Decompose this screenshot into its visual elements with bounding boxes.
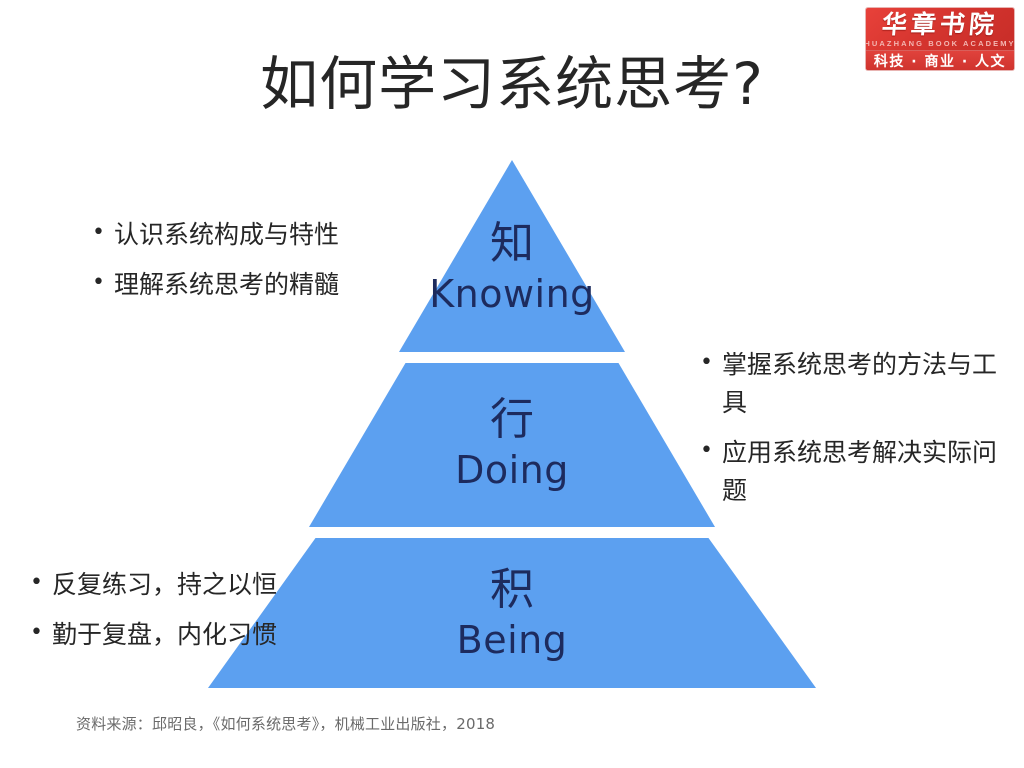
- bullet-text: 理解系统思考的精髓: [114, 266, 422, 304]
- bullet-marker-icon: •: [700, 434, 722, 467]
- pyramid-label-doing: 行 Doing: [412, 398, 612, 489]
- list-item: • 勤于复盘，内化习惯: [30, 616, 370, 654]
- pyramid-label-doing-cn: 行: [412, 398, 612, 442]
- pyramid-label-being: 积 Being: [412, 568, 612, 659]
- bullet-text: 掌握系统思考的方法与工具: [722, 346, 1010, 422]
- bullet-list-knowing: • 认识系统构成与特性 • 理解系统思考的精髓: [92, 216, 422, 316]
- pyramid-label-being-cn: 积: [412, 568, 612, 612]
- list-item: • 反复练习，持之以恒: [30, 566, 370, 604]
- page-title: 如何学习系统思考?: [0, 52, 1024, 117]
- bullet-list-being: • 反复练习，持之以恒 • 勤于复盘，内化习惯: [30, 566, 370, 666]
- logo-name-cn: 华章书院: [881, 11, 999, 38]
- bullet-text: 勤于复盘，内化习惯: [52, 616, 370, 654]
- slide-canvas: 华章书院 HUAZHANG BOOK ACADEMY 科技 · 商业 · 人文 …: [0, 0, 1024, 768]
- list-item: • 掌握系统思考的方法与工具: [700, 346, 1010, 422]
- pyramid-label-being-en: Being: [412, 621, 612, 659]
- pyramid-label-knowing: 知 Knowing: [412, 222, 612, 313]
- pyramid-label-doing-en: Doing: [412, 451, 612, 489]
- list-item: • 应用系统思考解决实际问题: [700, 434, 1010, 510]
- bullet-list-doing: • 掌握系统思考的方法与工具 • 应用系统思考解决实际问题: [700, 346, 1010, 522]
- pyramid-label-knowing-cn: 知: [412, 222, 612, 266]
- source-citation: 资料来源：邱昭良，《如何系统思考》，机械工业出版社，2018: [76, 713, 495, 734]
- bullet-marker-icon: •: [92, 216, 114, 249]
- logo-name-en: HUAZHANG BOOK ACADEMY: [866, 39, 1014, 48]
- bullet-marker-icon: •: [30, 616, 52, 649]
- bullet-text: 反复练习，持之以恒: [52, 566, 370, 604]
- bullet-marker-icon: •: [92, 266, 114, 299]
- bullet-text: 认识系统构成与特性: [114, 216, 422, 254]
- bullet-marker-icon: •: [700, 346, 722, 379]
- list-item: • 理解系统思考的精髓: [92, 266, 422, 304]
- bullet-text: 应用系统思考解决实际问题: [722, 434, 1010, 510]
- bullet-marker-icon: •: [30, 566, 52, 599]
- list-item: • 认识系统构成与特性: [92, 216, 422, 254]
- pyramid-label-knowing-en: Knowing: [412, 275, 612, 313]
